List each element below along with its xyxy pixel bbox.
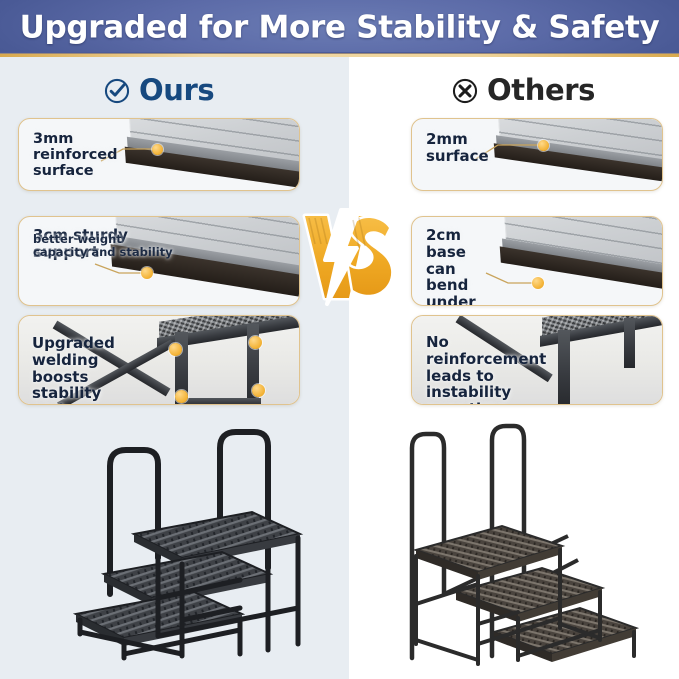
three-step-stairs-with-handrails-others <box>382 408 672 676</box>
gold-dot <box>141 267 153 279</box>
gold-dot <box>538 140 549 151</box>
page-title: Upgraded for More Stability & Safety <box>0 9 679 45</box>
three-step-stairs-with-handrails-ours <box>62 408 352 676</box>
circle-x-icon <box>452 78 478 104</box>
card-ours-2-sub: better weight capacity and stability <box>33 233 173 259</box>
comparison-infographic: Upgraded for More Stability & Safety Our… <box>0 0 679 679</box>
card-others-1-primary: 2mm surface <box>426 131 489 165</box>
card-others-1: 2mm surface <box>411 118 663 191</box>
gold-dot <box>152 144 163 155</box>
gold-dot <box>175 390 188 403</box>
column-heading-others: Others <box>452 76 595 105</box>
card-others-2-primary: 2cm base can bend under weight. <box>426 227 489 306</box>
card-ours-2: 3cm sturdy support better weight capacit… <box>18 216 300 306</box>
card-ours-3: Upgraded welding boosts stability and re… <box>18 315 300 405</box>
column-label-others: Others <box>487 76 595 105</box>
card-ours-3-primary: Upgraded welding boosts stability and re… <box>32 335 115 405</box>
header-banner: Upgraded for More Stability & Safety <box>0 0 679 56</box>
card-others-3: No reinforcement leads to instability ov… <box>411 315 663 405</box>
gold-dot <box>249 336 262 349</box>
card-others-3-primary: No reinforcement leads to instability ov… <box>426 334 546 405</box>
vs-badge <box>297 204 393 308</box>
gold-dot <box>252 384 265 397</box>
product-photo-ours <box>62 408 352 676</box>
column-heading-ours: Ours <box>104 76 214 105</box>
card-ours-1: 3mm reinforced surface <box>18 118 300 191</box>
card-ours-2-text: 3cm sturdy support better weight capacit… <box>33 227 173 259</box>
gold-dot <box>169 343 182 356</box>
card-ours-1-primary: 3mm reinforced surface <box>33 131 118 180</box>
vs-badge-icon <box>297 204 393 308</box>
product-photo-others <box>382 408 672 676</box>
gold-dot <box>532 277 544 289</box>
header-accent-rule <box>0 54 679 57</box>
card-others-2: 2cm base can bend under weight. <box>411 216 663 306</box>
circle-check-icon <box>104 78 130 104</box>
column-label-ours: Ours <box>139 76 214 105</box>
